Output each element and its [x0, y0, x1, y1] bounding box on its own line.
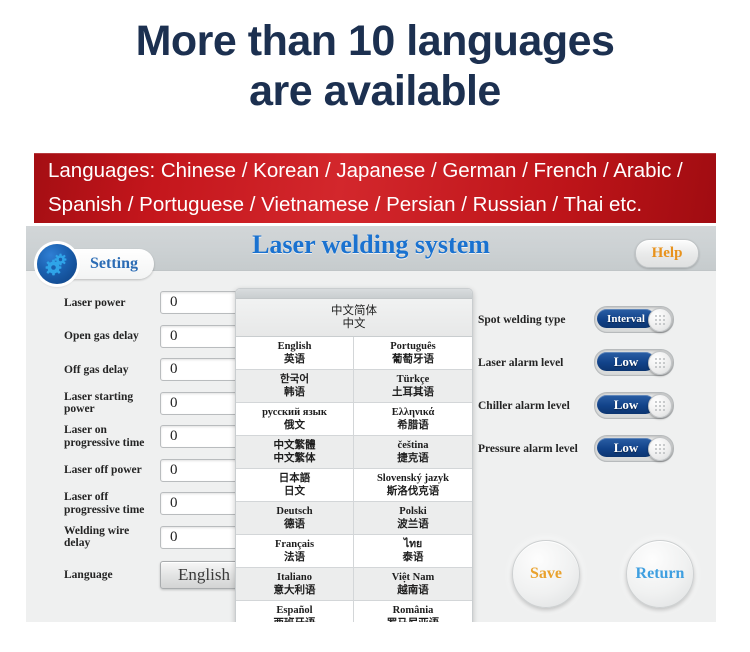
- language-option-italiano[interactable]: Italiano 意大利语: [236, 568, 354, 600]
- language-option-greek[interactable]: Ελληνικά 希腊语: [354, 403, 472, 435]
- option-zh: 韩语: [284, 386, 305, 399]
- languages-banner-line2: Spanish / Portuguese / Vietnamese / Pers…: [48, 188, 716, 222]
- option-zh: 西班牙语: [274, 617, 316, 622]
- toggle-row: Pressure alarm level Low: [478, 427, 703, 470]
- option-zh: 葡萄牙语: [392, 353, 434, 366]
- language-option-polski[interactable]: Polski 波兰语: [354, 502, 472, 534]
- toggle-knob[interactable]: [648, 308, 672, 332]
- toggle-value: Low: [597, 438, 655, 457]
- spot-welding-type-toggle[interactable]: Interval: [594, 306, 674, 333]
- language-label: Language: [64, 569, 148, 581]
- option-zh: 德语: [284, 518, 305, 531]
- language-option-thai[interactable]: ไทย 泰语: [354, 535, 472, 567]
- option-zh: 日文: [284, 485, 305, 498]
- language-option-korean[interactable]: 한국어 韩语: [236, 370, 354, 402]
- laser-on-progressive-time-input[interactable]: 0: [160, 425, 238, 448]
- language-option-row: Español 西班牙语 România 罗马尼亚语: [236, 601, 472, 622]
- language-row: Language English: [64, 558, 254, 592]
- option-native: ไทย: [404, 538, 422, 551]
- gears-icon[interactable]: [37, 244, 77, 284]
- option-zh: 罗马尼亚语: [387, 617, 440, 622]
- help-button-label: Help: [652, 245, 683, 262]
- help-button[interactable]: Help: [635, 239, 699, 268]
- field-row: Laser starting power 0: [64, 387, 254, 421]
- dropdown-selected-native: 中文简体: [331, 305, 377, 318]
- save-button[interactable]: Save: [512, 540, 580, 608]
- option-zh: 土耳其语: [392, 386, 434, 399]
- option-zh: 泰语: [403, 551, 424, 564]
- language-option-japanese[interactable]: 日本語 日文: [236, 469, 354, 501]
- field-label: Laser power: [64, 297, 148, 310]
- option-native: Deutsch: [276, 505, 312, 518]
- field-row: Laser off power 0: [64, 454, 254, 488]
- language-option-cestina[interactable]: čeština 捷克语: [354, 436, 472, 468]
- field-label: Open gas delay: [64, 330, 148, 343]
- option-native: Việt Nam: [392, 571, 434, 584]
- welding-wire-delay-input[interactable]: 0: [160, 526, 238, 549]
- language-option-row: English 英语 Português 葡萄牙语: [236, 337, 472, 370]
- field-label: Laser off progressive time: [64, 491, 148, 516]
- language-option-row: 한국어 韩语 Türkçe 土耳其语: [236, 370, 472, 403]
- language-option-portugues[interactable]: Português 葡萄牙语: [354, 337, 472, 369]
- field-row: Welding wire delay 0: [64, 521, 254, 555]
- toggle-row: Chiller alarm level Low: [478, 384, 703, 427]
- option-zh: 俄文: [284, 419, 305, 432]
- option-zh: 意大利语: [274, 584, 316, 597]
- toggle-row: Spot welding type Interval: [478, 298, 703, 341]
- toggle-label: Chiller alarm level: [478, 400, 588, 412]
- save-button-label: Save: [530, 565, 562, 583]
- language-option-english[interactable]: English 英语: [236, 337, 354, 369]
- field-row: Laser off progressive time 0: [64, 487, 254, 521]
- option-native: 한국어: [280, 373, 309, 386]
- option-zh: 英语: [284, 353, 305, 366]
- laser-off-progressive-time-input[interactable]: 0: [160, 492, 238, 515]
- option-zh: 波兰语: [397, 518, 429, 531]
- field-row: Open gas delay 0: [64, 320, 254, 354]
- toggle-knob[interactable]: [648, 394, 672, 418]
- dropdown-selected-item[interactable]: 中文简体 中文: [236, 299, 472, 337]
- option-native: Français: [275, 538, 314, 551]
- language-option-row: Deutsch 德语 Polski 波兰语: [236, 502, 472, 535]
- language-option-row: Italiano 意大利语 Việt Nam 越南语: [236, 568, 472, 601]
- dropdown-selected-zh: 中文: [343, 318, 366, 331]
- laser-alarm-level-toggle[interactable]: Low: [594, 349, 674, 376]
- language-option-deutsch[interactable]: Deutsch 德语: [236, 502, 354, 534]
- language-option-row: Français 法语 ไทย 泰语: [236, 535, 472, 568]
- option-zh: 越南语: [397, 584, 429, 597]
- language-option-espanol[interactable]: Español 西班牙语: [236, 601, 354, 622]
- language-option-romania[interactable]: România 罗马尼亚语: [354, 601, 472, 622]
- toggle-value: Low: [597, 395, 655, 414]
- page-title-line1: More than 10 languages: [136, 17, 615, 65]
- field-row: Off gas delay 0: [64, 353, 254, 387]
- toggle-knob[interactable]: [648, 351, 672, 375]
- field-label: Laser off power: [64, 464, 148, 477]
- field-label: Laser starting power: [64, 391, 148, 416]
- return-button[interactable]: Return: [626, 540, 694, 608]
- languages-banner-line1: Languages: Chinese / Korean / Japanese /…: [48, 154, 716, 188]
- option-native: 中文繁體: [274, 439, 316, 452]
- field-label: Laser on progressive time: [64, 424, 148, 449]
- toggle-knob[interactable]: [648, 437, 672, 461]
- setting-button-label: Setting: [90, 255, 138, 273]
- return-button-label: Return: [636, 565, 685, 583]
- page-title: More than 10 languages are available: [0, 16, 750, 116]
- option-zh: 希腊语: [397, 419, 429, 432]
- languages-banner: Languages: Chinese / Korean / Japanese /…: [34, 153, 716, 223]
- laser-off-power-input[interactable]: 0: [160, 459, 238, 482]
- option-native: Slovenský jazyk: [377, 472, 449, 485]
- option-zh: 中文繁体: [274, 452, 316, 465]
- toggle-label: Spot welding type: [478, 314, 588, 326]
- action-buttons: Save Return: [512, 540, 712, 610]
- option-native: Polski: [399, 505, 426, 518]
- pressure-alarm-level-toggle[interactable]: Low: [594, 435, 674, 462]
- dropdown-grip[interactable]: [236, 289, 472, 299]
- option-zh: 斯洛伐克语: [387, 485, 440, 498]
- device-screen: Laser welding system Help Setting: [26, 226, 716, 622]
- parameters-form: Laser power 0 Open gas delay 0 Off gas d…: [64, 286, 254, 592]
- language-option-traditional-chinese[interactable]: 中文繁體 中文繁体: [236, 436, 354, 468]
- option-native: Español: [276, 604, 312, 617]
- language-option-turkce[interactable]: Türkçe 土耳其语: [354, 370, 472, 402]
- option-zh: 捷克语: [397, 452, 429, 465]
- option-native: Italiano: [277, 571, 312, 584]
- language-option-row: русский язык 俄文 Ελληνικά 希腊语: [236, 403, 472, 436]
- toggle-label: Pressure alarm level: [478, 443, 588, 455]
- option-native: Ελληνικά: [392, 406, 435, 419]
- language-option-row: 中文繁體 中文繁体 čeština 捷克语: [236, 436, 472, 469]
- laser-starting-power-input[interactable]: 0: [160, 392, 238, 415]
- toggle-value: Low: [597, 352, 655, 371]
- option-native: čeština: [398, 439, 429, 452]
- field-row: Laser power 0: [64, 286, 254, 320]
- option-native: English: [278, 340, 312, 353]
- language-option-vietnamese[interactable]: Việt Nam 越南语: [354, 568, 472, 600]
- language-options-grid: English 英语 Português 葡萄牙语 한국어 韩语 Türkçe …: [236, 337, 472, 622]
- option-native: Português: [390, 340, 436, 353]
- option-native: Türkçe: [397, 373, 430, 386]
- option-native: România: [393, 604, 434, 617]
- option-native: русский язык: [262, 406, 327, 419]
- laser-power-input[interactable]: 0: [160, 291, 238, 314]
- toggle-label: Laser alarm level: [478, 357, 588, 369]
- page-title-line2: are available: [0, 66, 750, 116]
- chiller-alarm-level-toggle[interactable]: Low: [594, 392, 674, 419]
- option-native: 日本語: [279, 472, 311, 485]
- language-dropdown[interactable]: 中文简体 中文 English 英语 Português 葡萄牙语 한국어 韩语: [235, 288, 473, 622]
- language-option-slovensky[interactable]: Slovenský jazyk 斯洛伐克语: [354, 469, 472, 501]
- alarm-settings: Spot welding type Interval Laser alarm l…: [478, 298, 703, 470]
- field-label: Off gas delay: [64, 364, 148, 377]
- field-label: Welding wire delay: [64, 525, 148, 550]
- language-option-francais[interactable]: Français 法语: [236, 535, 354, 567]
- language-option-row: 日本語 日文 Slovenský jazyk 斯洛伐克语: [236, 469, 472, 502]
- option-zh: 法语: [284, 551, 305, 564]
- toggle-value: Interval: [597, 309, 655, 328]
- language-option-russian[interactable]: русский язык 俄文: [236, 403, 354, 435]
- toggle-row: Laser alarm level Low: [478, 341, 703, 384]
- open-gas-delay-input[interactable]: 0: [160, 325, 238, 348]
- off-gas-delay-input[interactable]: 0: [160, 358, 238, 381]
- field-row: Laser on progressive time 0: [64, 420, 254, 454]
